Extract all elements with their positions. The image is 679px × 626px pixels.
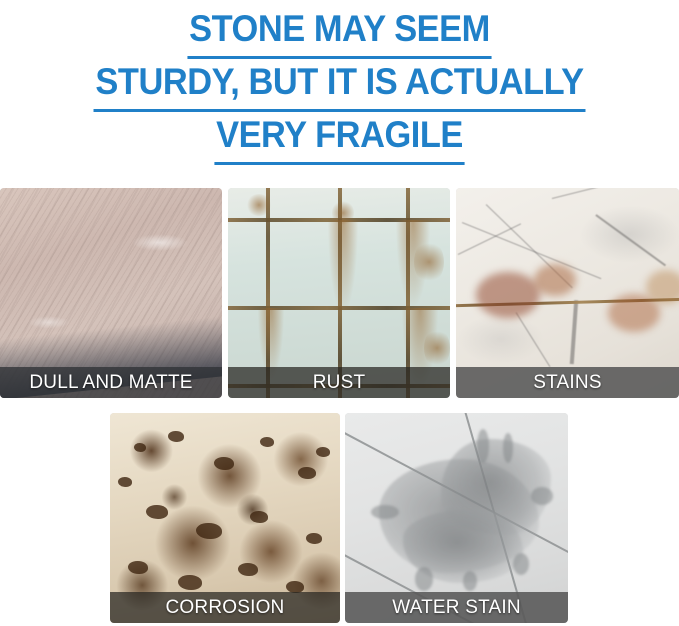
gallery-tile-rust[interactable]: RUST <box>228 188 450 398</box>
headline-line-1-text: STONE MAY SEEM <box>187 6 491 59</box>
headline-line-2-text: STURDY, BUT IT IS ACTUALLY <box>94 59 586 112</box>
gallery-tile-caption-stains: STAINS <box>456 367 679 398</box>
gallery-tile-water-stain[interactable]: WATER STAIN <box>345 413 568 623</box>
headline-line-3-text: VERY FRAGILE <box>214 112 465 165</box>
headline-line-1: STONE MAY SEEM <box>24 6 655 59</box>
gallery-tile-caption-water-stain: WATER STAIN <box>345 592 568 623</box>
page-title: STONE MAY SEEM STURDY, BUT IT IS ACTUALL… <box>0 0 679 165</box>
gallery-tile-caption-corrosion: CORROSION <box>110 592 340 623</box>
headline-line-3: VERY FRAGILE <box>24 112 655 165</box>
gallery-tile-stains[interactable]: STAINS <box>456 188 679 398</box>
gallery-tile-corrosion[interactable]: CORROSION <box>110 413 340 623</box>
gallery-tile-dull-and-matte[interactable]: DULL AND MATTE <box>0 188 222 398</box>
gallery-tile-caption-rust: RUST <box>228 367 450 398</box>
headline-line-2: STURDY, BUT IT IS ACTUALLY <box>24 59 655 112</box>
gallery-tile-caption-dull-and-matte: DULL AND MATTE <box>0 367 222 398</box>
